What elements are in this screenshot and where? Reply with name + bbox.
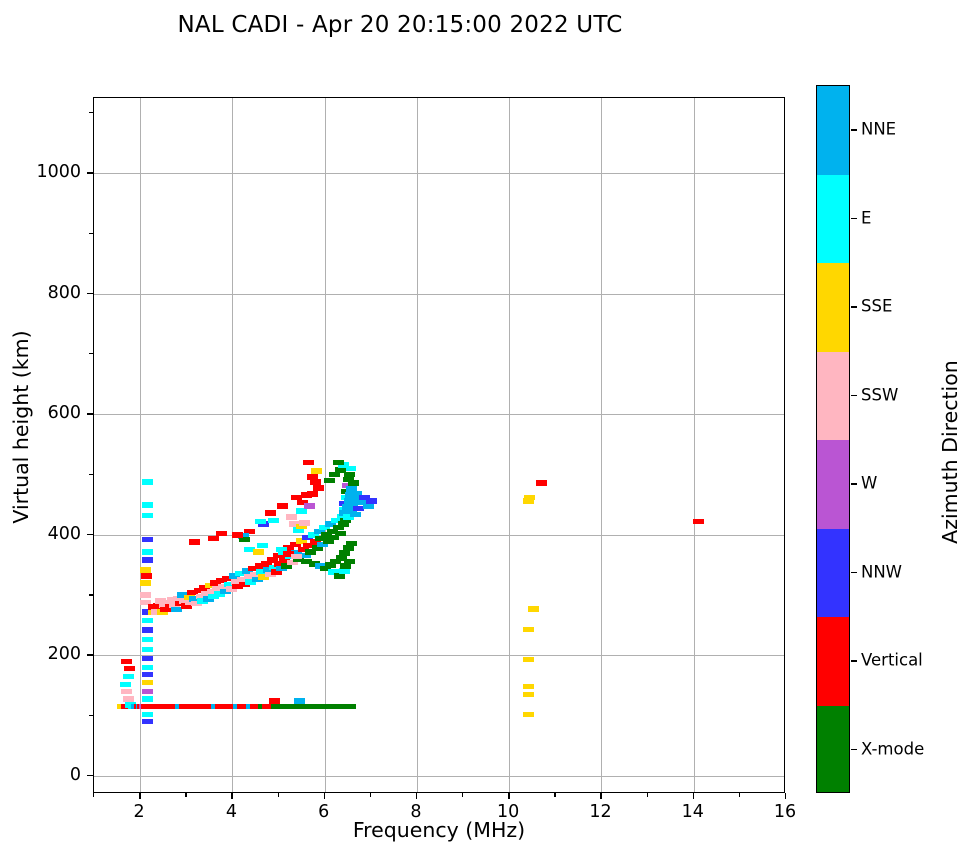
colorbar-tick [851, 218, 857, 219]
x-tick-label: 10 [497, 802, 519, 822]
data-point [255, 519, 266, 525]
x-tick [324, 793, 325, 799]
data-point [329, 472, 340, 478]
data-point [339, 568, 350, 574]
colorbar-segment-nne[interactable] [817, 86, 849, 175]
data-point [121, 659, 132, 665]
y-tick-label: 800 [7, 283, 81, 303]
data-point [313, 485, 324, 491]
x-tick [139, 793, 140, 799]
x-tick [231, 793, 232, 799]
data-point [310, 479, 321, 485]
data-point [142, 549, 153, 555]
colorbar-segment-w[interactable] [817, 440, 849, 529]
data-point [142, 502, 153, 508]
y-tick-minor [89, 353, 93, 354]
data-point [142, 680, 153, 686]
gridline-horizontal [94, 294, 784, 295]
data-point [140, 592, 151, 598]
data-point [693, 519, 704, 525]
data-point [366, 498, 377, 504]
data-point [142, 712, 153, 718]
x-tick-minor [93, 793, 94, 797]
colorbar-label-x-mode: X-mode [861, 739, 924, 758]
data-point [121, 689, 132, 695]
x-tick-minor [185, 793, 186, 797]
ionogram-figure: NAL CADI - Apr 20 20:15:00 2022 UTC Freq… [0, 0, 958, 857]
data-point [239, 537, 250, 543]
data-point [265, 510, 276, 516]
colorbar-tick [851, 749, 857, 750]
data-point [142, 672, 153, 678]
x-tick-minor [554, 793, 555, 797]
data-point [307, 491, 318, 497]
data-point [189, 539, 200, 545]
x-tick-label: 2 [134, 802, 145, 822]
data-point [268, 518, 279, 524]
y-tick-minor [89, 112, 93, 113]
data-point [142, 618, 153, 624]
data-point [528, 606, 539, 612]
data-point [142, 557, 153, 563]
data-point [123, 674, 134, 680]
x-tick [785, 793, 786, 799]
data-point [523, 657, 534, 663]
y-tick [87, 413, 93, 414]
x-tick-minor [647, 793, 648, 797]
colorbar-label-w: W [861, 474, 877, 493]
data-point [524, 495, 535, 501]
colorbar-segment-ssw[interactable] [817, 352, 849, 441]
data-point [142, 656, 153, 662]
x-tick [693, 793, 694, 799]
data-point [140, 567, 151, 573]
data-point [523, 684, 534, 690]
y-tick [87, 775, 93, 776]
data-point [344, 559, 355, 565]
data-point [296, 508, 307, 514]
x-tick [508, 793, 509, 799]
gridline-horizontal [94, 173, 784, 174]
colorbar-title: Azimuth Direction [938, 292, 958, 612]
data-point [124, 666, 135, 672]
data-point [523, 692, 534, 698]
gridline-horizontal [94, 776, 784, 777]
colorbar-label-sse: SSE [861, 297, 892, 316]
colorbar-segment-e[interactable] [817, 175, 849, 264]
data-point [142, 513, 153, 519]
colorbar-segment-sse[interactable] [817, 263, 849, 352]
data-point [324, 478, 335, 484]
colorbar-tick [851, 129, 857, 130]
y-tick-label: 600 [7, 403, 81, 423]
data-point [303, 460, 314, 466]
gridline-vertical [140, 98, 141, 792]
colorbar-segment-x-mode[interactable] [817, 706, 849, 794]
gridline-vertical [509, 98, 510, 792]
data-point [304, 503, 315, 509]
colorbar-label-e: E [861, 208, 871, 227]
data-point [120, 682, 131, 688]
colorbar-segment-vertical[interactable] [817, 617, 849, 706]
data-point [345, 704, 356, 710]
x-tick-label: 6 [318, 802, 329, 822]
data-point [142, 689, 153, 695]
x-tick-minor [278, 793, 279, 797]
gridline-horizontal [94, 655, 784, 656]
colorbar[interactable] [816, 85, 850, 793]
data-point [344, 472, 355, 478]
data-point [123, 696, 134, 702]
colorbar-tick [851, 306, 857, 307]
x-tick [600, 793, 601, 799]
colorbar-tick [851, 572, 857, 573]
data-point [253, 549, 264, 555]
colorbar-label-ssw: SSW [861, 385, 898, 404]
x-tick-minor [370, 793, 371, 797]
x-tick [416, 793, 417, 799]
y-tick-label: 400 [7, 524, 81, 544]
colorbar-segment-nnw[interactable] [817, 529, 849, 618]
data-point [277, 503, 288, 509]
data-point [232, 532, 243, 538]
y-tick [87, 293, 93, 294]
y-tick-minor [89, 233, 93, 234]
data-point [333, 460, 344, 466]
data-point [340, 563, 351, 569]
data-point [339, 550, 350, 556]
y-tick-label: 0 [7, 765, 81, 785]
data-point [142, 665, 153, 671]
data-point [346, 541, 357, 547]
data-point [142, 647, 153, 653]
y-tick-label: 200 [7, 644, 81, 664]
y-tick-minor [89, 474, 93, 475]
colorbar-tick [851, 483, 857, 484]
data-point [142, 627, 153, 633]
gridline-vertical [417, 98, 418, 792]
data-point [257, 543, 268, 549]
x-tick-minor [739, 793, 740, 797]
x-tick-label: 14 [682, 802, 704, 822]
data-point [140, 580, 151, 586]
data-point [142, 637, 153, 643]
page-title: NAL CADI - Apr 20 20:15:00 2022 UTC [0, 12, 800, 38]
x-tick-minor [462, 793, 463, 797]
data-point [299, 520, 310, 526]
colorbar-label-nne: NNE [861, 120, 896, 139]
y-tick [87, 654, 93, 655]
data-point [350, 512, 361, 518]
data-point [286, 514, 297, 520]
data-point [343, 545, 354, 551]
data-point [334, 573, 345, 579]
data-point [523, 712, 534, 718]
data-point [311, 468, 322, 474]
data-point [291, 495, 302, 501]
y-tick [87, 172, 93, 173]
data-point [142, 696, 153, 702]
colorbar-tick [851, 660, 857, 661]
x-tick-label: 8 [410, 802, 421, 822]
colorbar-label-nnw: NNW [861, 562, 902, 581]
y-tick-minor [89, 594, 93, 595]
data-point [523, 627, 534, 633]
data-point [208, 536, 219, 542]
y-tick-minor [89, 715, 93, 716]
data-point [334, 704, 345, 710]
x-tick-label: 12 [589, 802, 611, 822]
data-point [142, 719, 153, 725]
gridline-horizontal [94, 535, 784, 536]
data-point [536, 480, 547, 486]
gridline-vertical [694, 98, 695, 792]
data-point [348, 480, 359, 486]
colorbar-tick [851, 395, 857, 396]
gridline-horizontal [94, 414, 784, 415]
x-tick-label: 4 [226, 802, 237, 822]
y-tick [87, 534, 93, 535]
data-point [335, 531, 346, 537]
gridline-vertical [232, 98, 233, 792]
colorbar-label-vertical: Vertical [861, 651, 923, 670]
data-point [141, 573, 152, 579]
gridline-vertical [325, 98, 326, 792]
x-tick-label: 16 [774, 802, 796, 822]
data-point [142, 537, 153, 543]
plot-area [93, 97, 785, 793]
data-point [363, 503, 374, 509]
y-tick-label: 1000 [7, 162, 81, 182]
gridline-vertical [601, 98, 602, 792]
data-point [142, 479, 153, 485]
